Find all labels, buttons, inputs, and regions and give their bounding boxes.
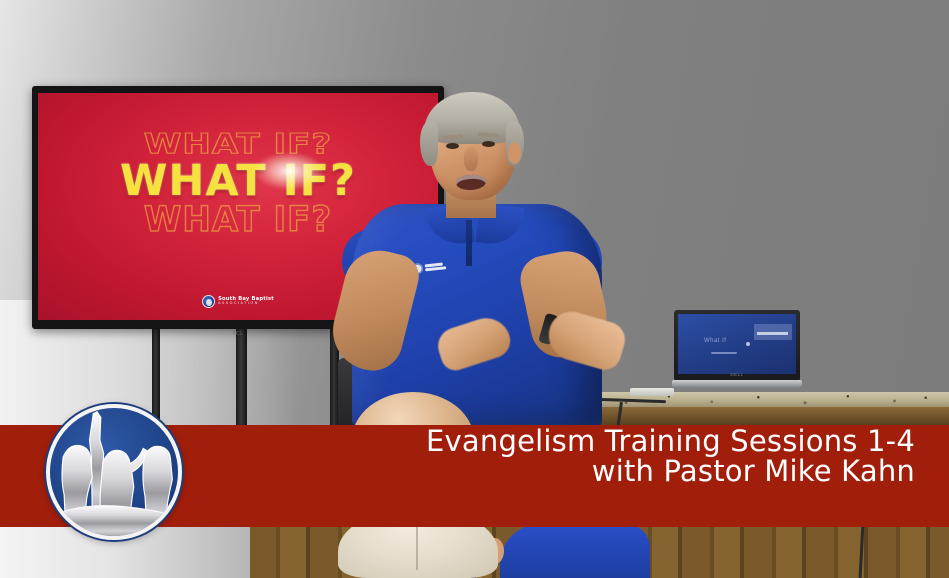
lower-third-title: Evangelism Training Sessions 1-4 with Pa… (295, 426, 915, 486)
laptop-base (672, 380, 802, 388)
slide-logo-line2: ASSOCIATION (218, 302, 274, 306)
laptop-screen: What If (678, 314, 796, 374)
raised-hands-circle-emblem-icon (46, 404, 182, 540)
tv-stand-post-left (152, 329, 160, 430)
presenter-laptop: What If DELL (672, 310, 802, 392)
speaker-eye-left (446, 143, 459, 149)
speaker-hair-side-left (420, 122, 438, 166)
speaker-shirt-placket (466, 220, 472, 266)
speaker-ear (508, 142, 521, 164)
speaker-eye-right (482, 141, 495, 147)
slide-logo-mark-icon (202, 295, 215, 308)
slide-footer-logo: South Bay Baptist ASSOCIATION (202, 295, 274, 308)
lower-third-line-2: with Pastor Mike Kahn (295, 456, 915, 486)
laptop-lid: What If (674, 310, 800, 380)
speaker-figure (330, 92, 640, 430)
laptop-brand-label: DELL (730, 372, 743, 377)
laptop-screen-label: What If (704, 338, 727, 344)
laptop-screen-subline (711, 352, 737, 354)
laptop-cursor-dot-icon (746, 342, 750, 346)
speaker-nose (464, 147, 478, 171)
slide-logo-text: South Bay Baptist ASSOCIATION (218, 297, 274, 306)
chest-logo-lines-icon (425, 262, 447, 271)
laptop-screen-panel (754, 324, 792, 340)
tv-brand-label: TCL (232, 331, 243, 337)
tv-stand-post-center (236, 329, 247, 430)
audience-blue-shoulder (500, 524, 650, 578)
lower-third-line-1: Evangelism Training Sessions 1-4 (295, 426, 915, 456)
video-frame: WHAT IF? WHAT IF? WHAT IF? South Bay Bap… (0, 0, 949, 578)
